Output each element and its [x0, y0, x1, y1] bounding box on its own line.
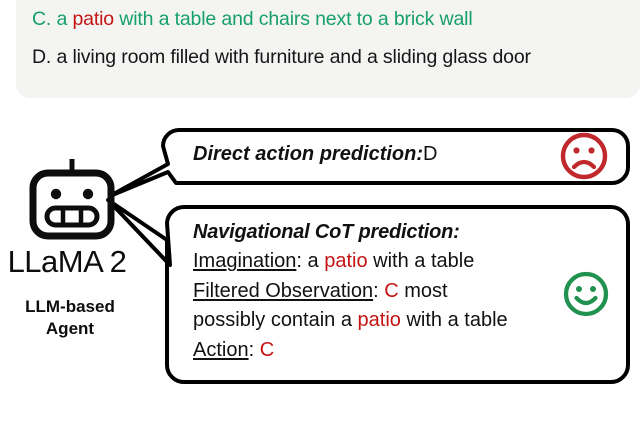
agent-role-line-2: Agent [0, 318, 140, 340]
option-c-text-after: with a table and chairs next to a brick … [114, 8, 473, 30]
cot-label-imagination: Imagination [193, 250, 296, 272]
option-row-c: C. a patio with a table and chairs next … [32, 8, 473, 31]
figure-canvas: B. a dining room with a clock on the wal… [0, 0, 640, 424]
direct-action-answer: D [423, 143, 437, 165]
cot-imagination-after: with a table [368, 250, 475, 272]
robot-head-icon [26, 158, 118, 242]
option-c-keyword: patio [72, 8, 114, 30]
cot-cont-after: with a table [401, 309, 508, 331]
cot-row-imagination: Imagination: a patio with a table [193, 247, 573, 276]
cot-cont-keyword: patio [358, 309, 401, 331]
direct-action-heading: Direct action prediction: [193, 143, 423, 165]
navigational-cot-heading: Navigational CoT prediction: [193, 218, 573, 247]
direct-action-prediction-text: Direct action prediction:D [193, 143, 437, 166]
cot-sep-imagination: : [296, 250, 307, 272]
cot-action-answer: C [260, 339, 274, 361]
model-name-label: LLaMA 2 [0, 244, 142, 280]
agent-role-line-1: LLM-based [0, 296, 140, 318]
cot-label-action: Action [193, 339, 249, 361]
sad-face-icon [559, 131, 609, 181]
cot-imagination-before: a [308, 250, 325, 272]
cot-row-filtered-observation-cont: possibly contain a patio with a table [193, 306, 573, 335]
option-d-prefix: D. [32, 46, 51, 68]
option-c-text-before: a [56, 8, 72, 30]
cot-imagination-keyword: patio [324, 250, 367, 272]
cot-label-filtered-observation: Filtered Observation [193, 280, 373, 302]
answer-options-panel: B. a dining room with a clock on the wal… [16, 0, 640, 98]
navigational-cot-text: Navigational CoT prediction: Imagination… [193, 218, 573, 365]
happy-face-icon [562, 270, 610, 318]
cot-row-filtered-observation: Filtered Observation: C most [193, 277, 573, 306]
cot-cont-text: possibly contain a [193, 309, 358, 331]
cot-row-action: Action: C [193, 336, 573, 365]
cot-filtered-observation-after: most [399, 280, 448, 302]
cot-filtered-observation-answer: C [384, 280, 398, 302]
option-c-prefix: C. [32, 8, 51, 30]
agent-role-label: LLM-based Agent [0, 296, 140, 341]
option-row-d: D. a living room filled with furniture a… [32, 46, 531, 69]
option-d-text: a living room filled with furniture and … [56, 46, 530, 68]
cot-sep-filtered-observation: : [373, 280, 384, 302]
cot-sep-action: : [249, 339, 260, 361]
